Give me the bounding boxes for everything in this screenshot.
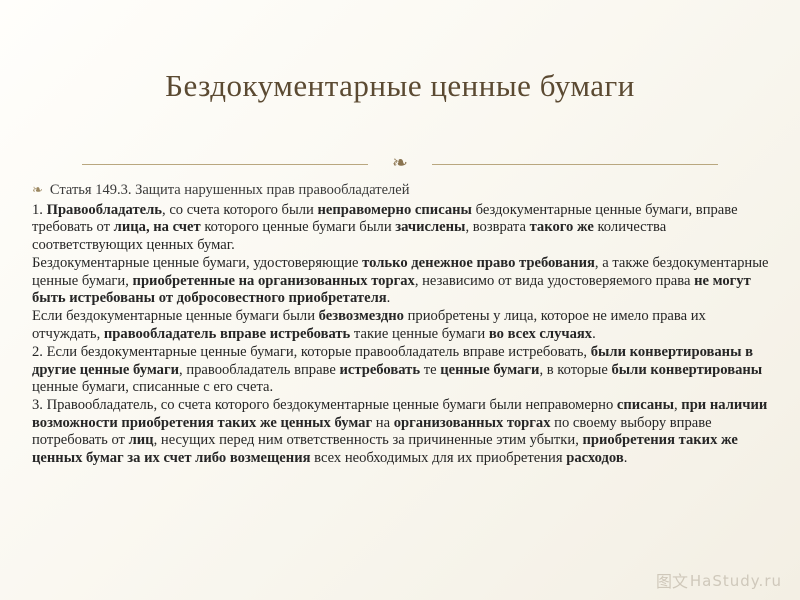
text-run-bold: списаны bbox=[617, 397, 674, 413]
text-run: , в которые bbox=[539, 362, 611, 378]
text-run: на bbox=[372, 415, 394, 431]
text-run-bold: неправомерно списаны bbox=[318, 202, 472, 218]
text-run-bold: такого же bbox=[530, 219, 594, 235]
text-run: те bbox=[420, 362, 440, 378]
text-run: . bbox=[624, 450, 628, 466]
text-run: , правообладатель вправе bbox=[179, 362, 339, 378]
text-run: 3. bbox=[32, 397, 47, 413]
text-run: , со счета которого бездокументарные цен… bbox=[153, 397, 616, 413]
text-run-bold: организованных торгах bbox=[394, 415, 551, 431]
text-run-bold: лица, на счет bbox=[114, 219, 201, 235]
bullet-ornament-icon: ❧ bbox=[32, 182, 43, 198]
text-run: которого ценные бумаги были bbox=[201, 219, 396, 235]
text-run: , возврата bbox=[465, 219, 529, 235]
text-run: 1. bbox=[32, 202, 47, 218]
text-run-bold: Правообладатель bbox=[47, 202, 162, 218]
paragraph-list: 1. Правообладатель, со счета которого бы… bbox=[32, 202, 772, 467]
subtitle-bullet: ❧ Статья 149.3. Защита нарушенных прав п… bbox=[32, 182, 772, 199]
text-run: , независимо от вида удостоверяемого пра… bbox=[415, 273, 694, 289]
slide-canvas: Бездокументарные ценные бумаги ❧ ❧ Стать… bbox=[0, 0, 800, 600]
text-run: , несущих перед ним ответственность за п… bbox=[154, 432, 583, 448]
content-body: ❧ Статья 149.3. Защита нарушенных прав п… bbox=[32, 182, 772, 467]
paragraph: Бездокументарные ценные бумаги, удостове… bbox=[32, 255, 772, 307]
page-title: Бездокументарные ценные бумаги bbox=[40, 68, 760, 104]
text-run: такие ценные бумаги bbox=[350, 326, 489, 342]
text-run: Если бездокументарные ценные бумаги были bbox=[32, 308, 319, 324]
text-run-bold: приобретенные на организованных торгах bbox=[133, 273, 415, 289]
text-run: . bbox=[387, 290, 391, 306]
divider-line-left bbox=[82, 164, 368, 165]
divider-line-right bbox=[432, 164, 718, 165]
text-run-bold: во всех случаях bbox=[489, 326, 592, 342]
paragraph: 2. Если бездокументарные ценные бумаги, … bbox=[32, 344, 772, 396]
watermark: HaStudy.ru bbox=[690, 572, 782, 590]
text-run: . bbox=[592, 326, 596, 342]
text-run-bold: правообладатель вправе истребовать bbox=[104, 326, 350, 342]
text-run-bold: возмещения bbox=[230, 450, 311, 466]
text-run-bold: расходов bbox=[566, 450, 624, 466]
text-run-bold: истребовать bbox=[339, 362, 420, 378]
text-run: всех необходимых для их приобретения bbox=[311, 450, 567, 466]
subtitle-text: Статья 149.3. Защита нарушенных прав пра… bbox=[50, 182, 410, 199]
paragraph: 3. Правообладатель, со счета которого бе… bbox=[32, 397, 772, 467]
watermark-mark-icon: 图文 bbox=[656, 568, 688, 592]
paragraph: Если бездокументарные ценные бумаги были… bbox=[32, 308, 772, 343]
ornament-icon: ❧ bbox=[392, 150, 408, 178]
text-run: Правообладатель bbox=[47, 397, 154, 413]
text-run: 2. Если бездокументарные ценные бумаги, … bbox=[32, 344, 591, 360]
text-run-bold: были конвертированы bbox=[611, 362, 762, 378]
text-run-bold: безвозмездно bbox=[319, 308, 404, 324]
text-run: Бездокументарные ценные бумаги, удостове… bbox=[32, 255, 362, 271]
text-run-bold: зачислены bbox=[395, 219, 465, 235]
divider: ❧ bbox=[82, 150, 718, 180]
text-run-bold: ценные бумаги bbox=[440, 362, 539, 378]
text-run-bold: лиц bbox=[129, 432, 154, 448]
text-run: ценные бумаги, списанные с его счета. bbox=[32, 379, 273, 395]
paragraph: 1. Правообладатель, со счета которого бы… bbox=[32, 202, 772, 254]
text-run: , со счета которого были bbox=[162, 202, 317, 218]
text-run-bold: только денежное право требования bbox=[362, 255, 595, 271]
